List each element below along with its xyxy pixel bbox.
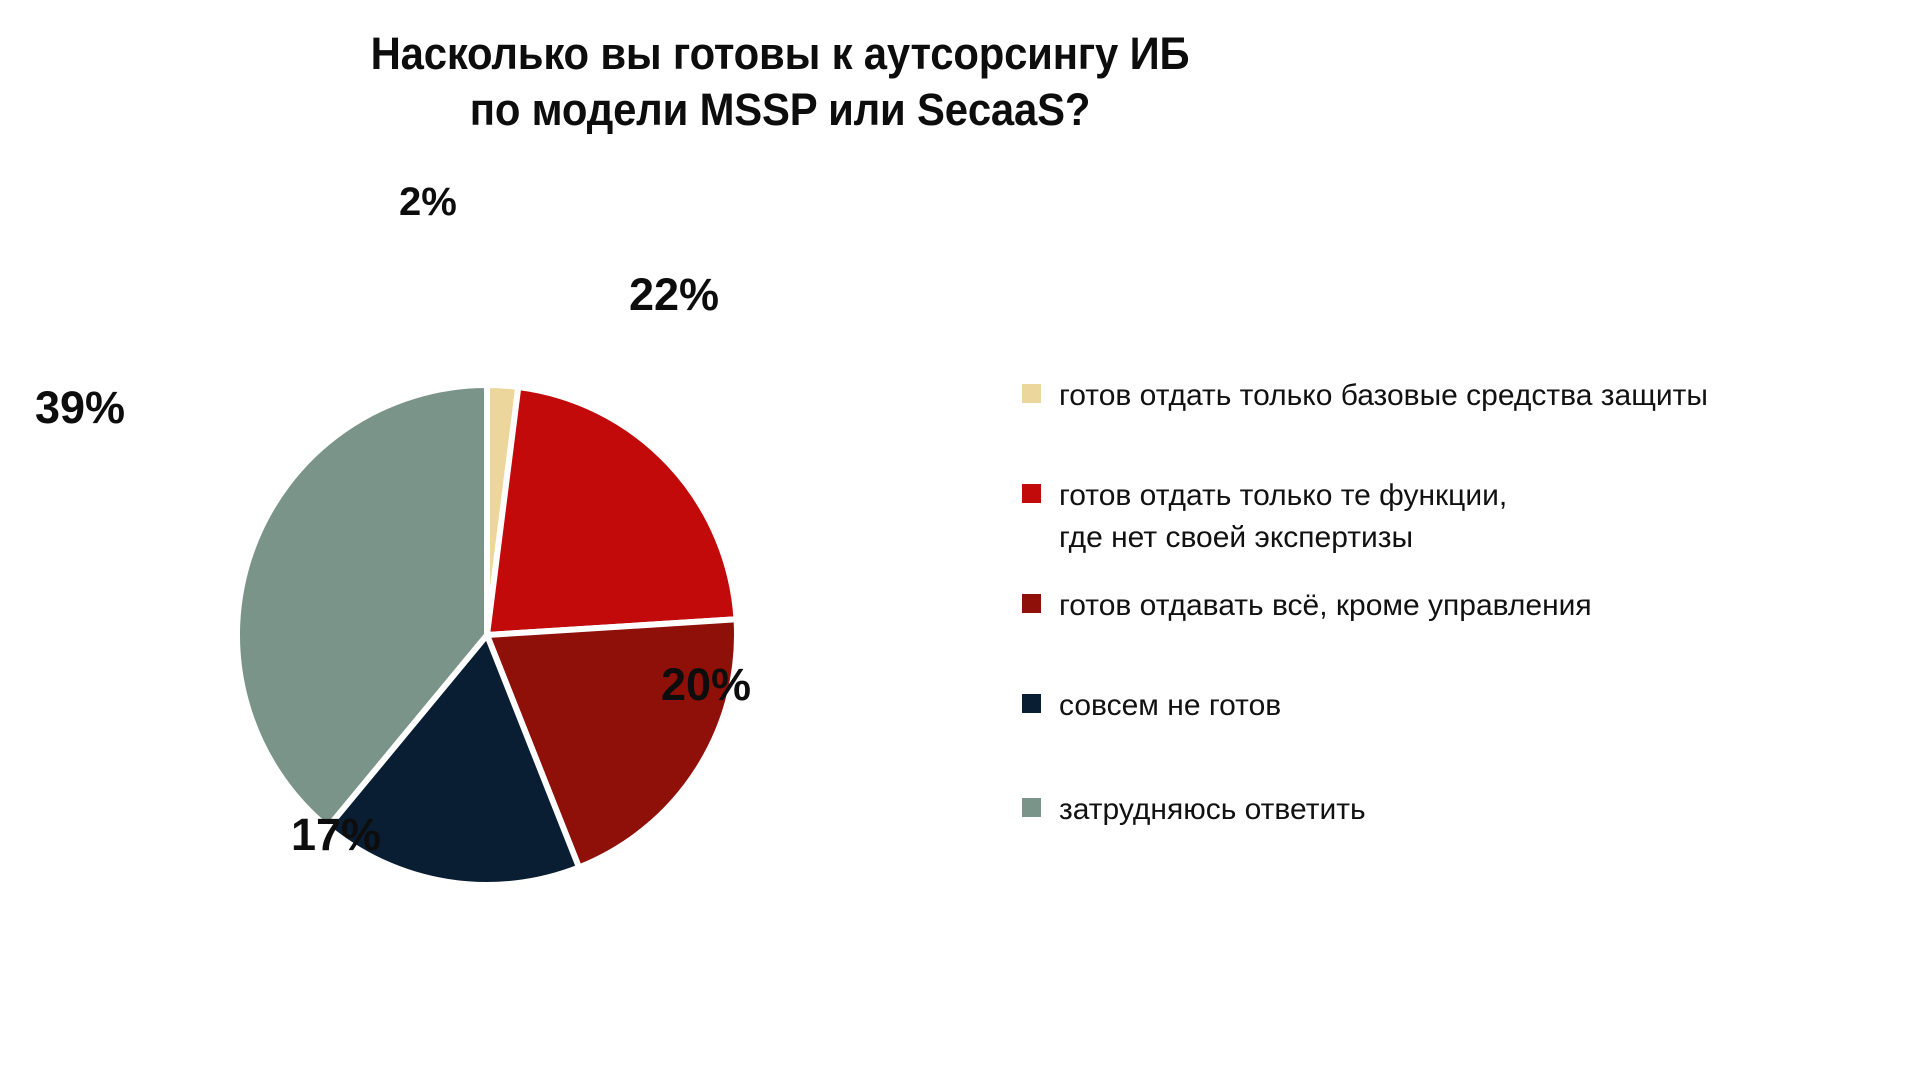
- legend-item-3[interactable]: совсем не готов: [1022, 685, 1902, 727]
- legend-swatch-icon-2: [1022, 594, 1041, 613]
- legend-label-3-line-1: совсем не готов: [1059, 685, 1281, 727]
- legend-item-4[interactable]: затрудняюсь ответить: [1022, 789, 1902, 831]
- pie-chart: 2% 22% 20% 17% 39%: [0, 0, 1000, 1080]
- legend-swatch-icon-0: [1022, 384, 1041, 403]
- legend-label-2: готов отдавать всё, кроме управления: [1059, 585, 1592, 627]
- legend-item-1[interactable]: готов отдать только те функции, где нет …: [1022, 475, 1902, 559]
- legend-label-4: затрудняюсь ответить: [1059, 789, 1366, 831]
- legend-swatch-icon-3: [1022, 694, 1041, 713]
- legend-item-0[interactable]: готов отдать только базовые средства защ…: [1022, 375, 1902, 417]
- legend-label-3: совсем не готов: [1059, 685, 1281, 727]
- legend-label-1-line-1: готов отдать только те функции,: [1059, 475, 1507, 517]
- slice-label-navy: 17%: [291, 812, 381, 857]
- legend-label-1-line-2: где нет своей экспертизы: [1059, 517, 1507, 559]
- legend-swatch-icon-1: [1022, 484, 1041, 503]
- legend-label-0: готов отдать только базовые средства защ…: [1059, 375, 1708, 417]
- slice-label-darkred: 20%: [661, 662, 751, 707]
- legend-swatch-icon-4: [1022, 798, 1041, 817]
- slice-label-green: 39%: [35, 385, 125, 430]
- legend-label-4-line-1: затрудняюсь ответить: [1059, 789, 1366, 831]
- legend-label-0-line-1: готов отдать только базовые средства защ…: [1059, 375, 1708, 417]
- pie-slice-1[interactable]: [487, 387, 737, 635]
- slice-label-tan: 2%: [399, 182, 457, 222]
- legend-item-2[interactable]: готов отдавать всё, кроме управления: [1022, 585, 1902, 627]
- legend-label-1: готов отдать только те функции, где нет …: [1059, 475, 1507, 559]
- chart-legend: готов отдать только базовые средства защ…: [1022, 375, 1902, 831]
- pie-chart-svg: [0, 0, 1000, 1080]
- slice-label-red: 22%: [629, 272, 719, 317]
- legend-label-2-line-1: готов отдавать всё, кроме управления: [1059, 585, 1592, 627]
